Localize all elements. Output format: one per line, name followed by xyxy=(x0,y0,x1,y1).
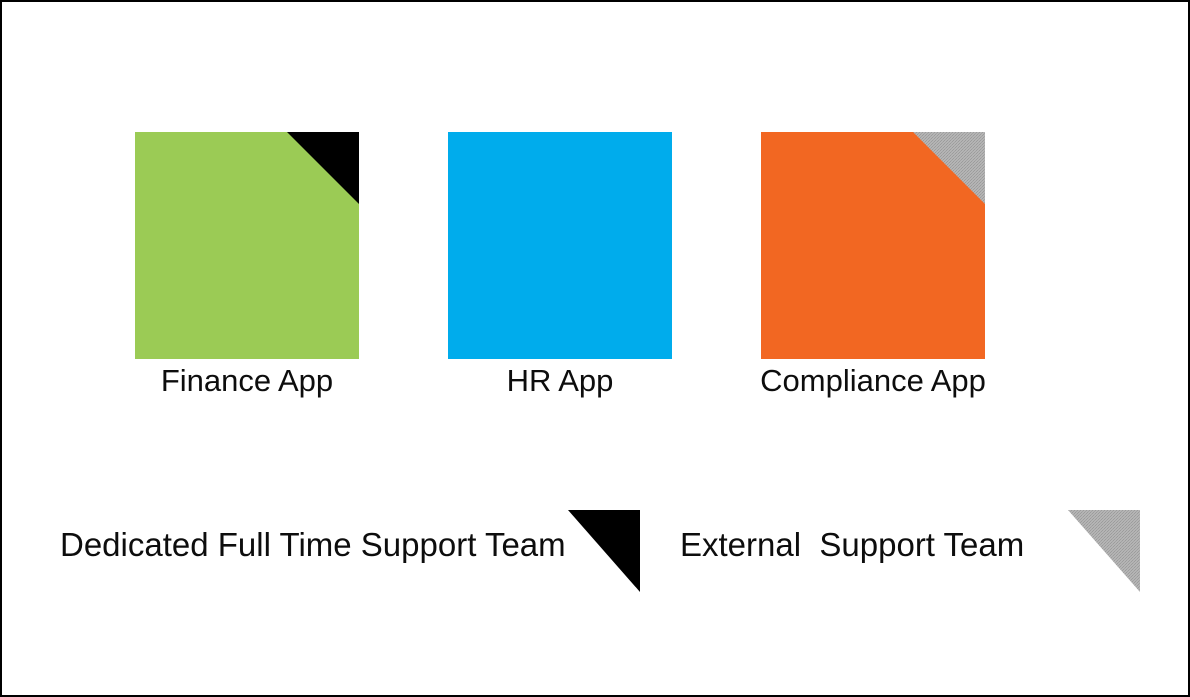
app-label-hr: HR App xyxy=(408,363,712,399)
corner-triangle-icon xyxy=(913,132,985,204)
app-square-fill xyxy=(448,132,672,359)
corner-triangle-icon xyxy=(287,132,359,204)
corner-triangle-shape xyxy=(287,132,359,204)
legend-label-external: External Support Team xyxy=(680,526,1024,564)
triangle-swatch-icon xyxy=(568,510,640,592)
app-label-compliance: Compliance App xyxy=(721,363,1025,399)
app-square-hr[interactable] xyxy=(448,132,672,359)
diagram-canvas: Finance App HR App Compliance App Dedica… xyxy=(0,0,1190,697)
legend-item-external: External Support Team xyxy=(680,510,1135,600)
app-tile-compliance[interactable]: Compliance App xyxy=(761,132,985,359)
legend-triangle-shape xyxy=(1068,510,1140,592)
legend-triangle-shape xyxy=(568,510,640,592)
app-tile-hr[interactable]: HR App xyxy=(448,132,672,359)
app-tile-finance[interactable]: Finance App xyxy=(135,132,359,359)
legend-label-dedicated: Dedicated Full Time Support Team xyxy=(60,526,566,564)
legend-item-dedicated: Dedicated Full Time Support Team xyxy=(60,510,640,600)
triangle-swatch-icon xyxy=(1068,510,1140,592)
app-label-finance: Finance App xyxy=(95,363,399,399)
corner-triangle-shape xyxy=(913,132,985,204)
